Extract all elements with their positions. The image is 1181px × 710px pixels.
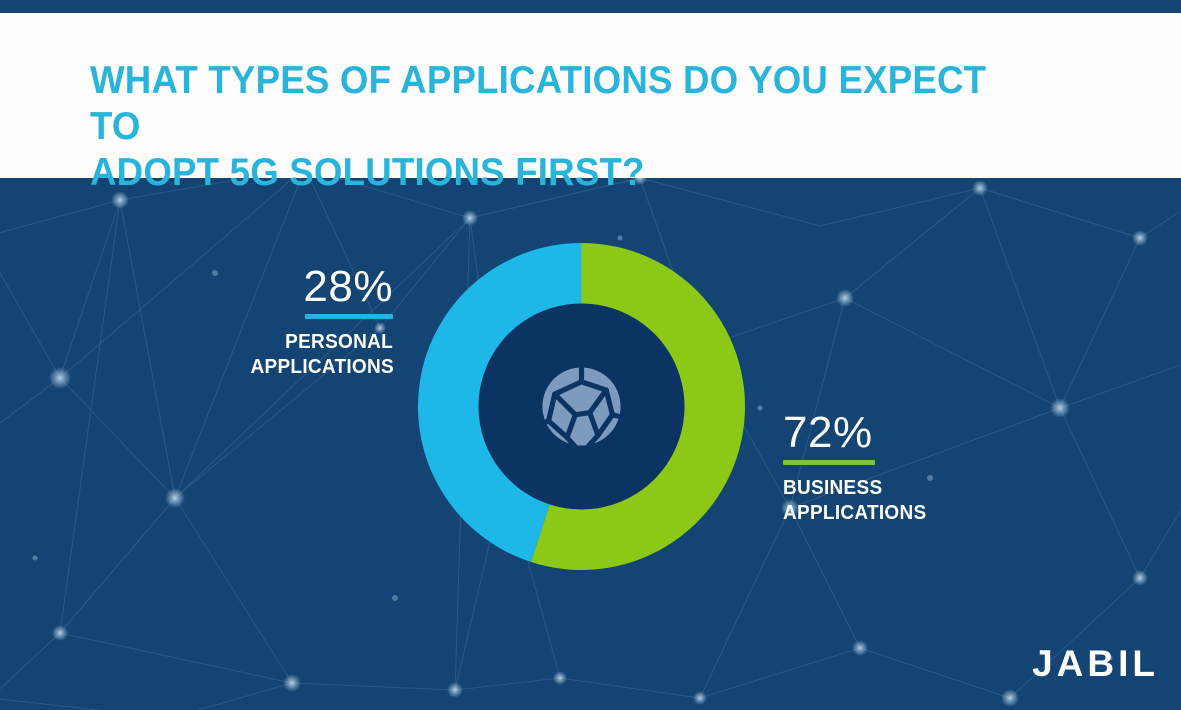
stat-business-label: BUSINESS APPLICATIONS <box>783 476 973 526</box>
stat-business-value: 72% <box>783 410 983 456</box>
infographic-root: WHAT TYPES OF APPLICATIONS DO YOU EXPECT… <box>0 0 1181 710</box>
title-band: WHAT TYPES OF APPLICATIONS DO YOU EXPECT… <box>0 13 1181 178</box>
stat-personal-underline <box>305 314 393 319</box>
page-title: WHAT TYPES OF APPLICATIONS DO YOU EXPECT… <box>90 58 992 196</box>
stat-personal-applications: 28% PERSONAL APPLICATIONS <box>243 264 393 380</box>
jabil-logo: JABIL <box>1032 644 1159 684</box>
stat-personal-label: PERSONAL APPLICATIONS <box>251 330 394 380</box>
globe-network-icon <box>530 355 633 458</box>
stat-personal-value: 28% <box>243 264 393 310</box>
stat-business-applications: 72% BUSINESS APPLICATIONS <box>783 410 983 526</box>
stat-business-underline <box>783 460 875 465</box>
globe-icon-container <box>530 355 633 458</box>
